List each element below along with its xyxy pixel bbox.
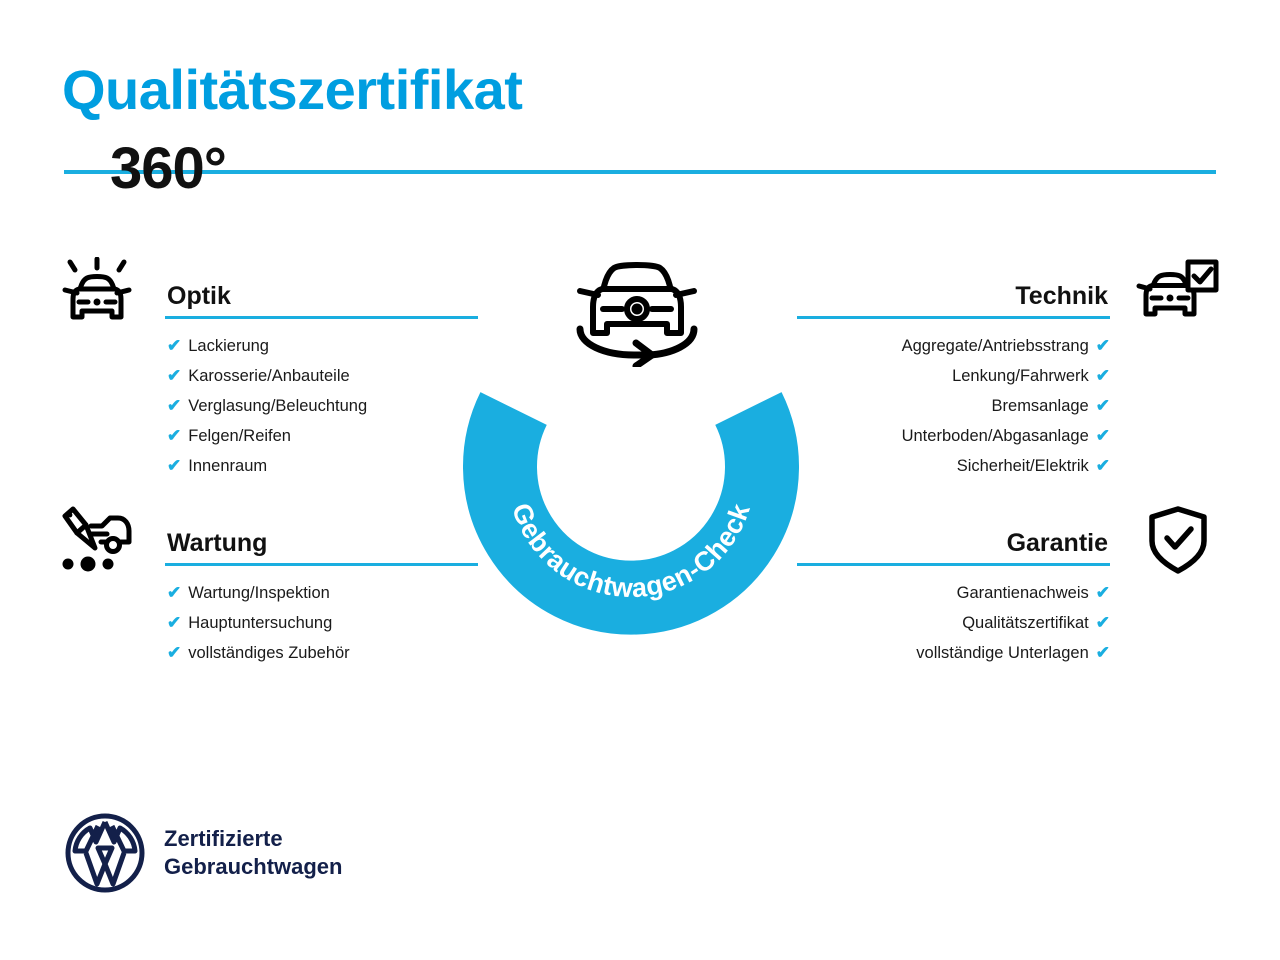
check-icon: ✔: [1096, 336, 1110, 355]
list-item-label: Karosserie/Anbauteile: [188, 367, 349, 385]
section-header: Garantie: [800, 502, 1220, 578]
section-header: Wartung: [55, 502, 475, 578]
check-icon: ✔: [167, 426, 181, 445]
list-item-label: Garantienachweis: [957, 584, 1089, 602]
list-item: ✔vollständiges Zubehör: [167, 638, 475, 668]
list-item: ✔Innenraum: [167, 451, 475, 481]
check-icon: ✔: [167, 396, 181, 415]
list-item-label: Sicherheit/Elektrik: [957, 457, 1089, 475]
list-item: Qualitätszertifikat✔: [800, 608, 1110, 638]
section-title: Garantie: [1007, 529, 1108, 558]
list-item-label: Qualitätszertifikat: [962, 614, 1089, 632]
footer-logo: Zertifizierte Gebrauchtwagen: [64, 812, 342, 894]
list-item: Lenkung/Fahrwerk✔: [800, 361, 1110, 391]
check-icon: ✔: [1096, 456, 1110, 475]
check-icon: ✔: [1096, 396, 1110, 415]
list-item-label: Lenkung/Fahrwerk: [952, 367, 1089, 385]
list-item: ✔Karosserie/Anbauteile: [167, 361, 475, 391]
check-icon: ✔: [167, 643, 181, 662]
check-icon: ✔: [167, 456, 181, 475]
check-icon: ✔: [167, 613, 181, 632]
car-checkbox-icon: [1136, 257, 1220, 329]
section-divider: [165, 563, 478, 566]
list-item-label: Wartung/Inspektion: [188, 584, 330, 602]
footer-text: Zertifizierte Gebrauchtwagen: [164, 825, 342, 881]
check-icon: ✔: [1096, 426, 1110, 445]
section-title: Wartung: [167, 529, 267, 558]
list-item: Unterboden/Abgasanlage✔: [800, 421, 1110, 451]
footer-line-1: Zertifizierte: [164, 825, 342, 853]
section-technik: Technik Aggregate/Antriebsstrang✔ Lenkun…: [800, 255, 1220, 481]
list-item: vollständige Unterlagen✔: [800, 638, 1110, 668]
list-item-label: Lackierung: [188, 337, 269, 355]
list-item-label: vollständige Unterlagen: [916, 644, 1088, 662]
checklist-garantie: Garantienachweis✔ Qualitätszertifikat✔ v…: [800, 578, 1220, 668]
section-divider: [797, 563, 1110, 566]
checklist-wartung: ✔Wartung/Inspektion ✔Hauptuntersuchung ✔…: [55, 578, 475, 668]
list-item-label: Verglasung/Beleuchtung: [188, 397, 367, 415]
list-item: ✔Felgen/Reifen: [167, 421, 475, 451]
list-item-label: Felgen/Reifen: [188, 427, 291, 445]
list-item-label: vollständiges Zubehör: [188, 644, 349, 662]
list-item-label: Hauptuntersuchung: [188, 614, 332, 632]
list-item: Sicherheit/Elektrik✔: [800, 451, 1110, 481]
checklist-optik: ✔Lackierung ✔Karosserie/Anbauteile ✔Verg…: [55, 331, 475, 481]
list-item: Aggregate/Antriebsstrang✔: [800, 331, 1110, 361]
list-item-label: Unterboden/Abgasanlage: [902, 427, 1089, 445]
list-item: Bremsanlage✔: [800, 391, 1110, 421]
checklist-technik: Aggregate/Antriebsstrang✔ Lenkung/Fahrwe…: [800, 331, 1220, 481]
list-item: ✔Hauptuntersuchung: [167, 608, 475, 638]
list-item-label: Aggregate/Antriebsstrang: [902, 337, 1089, 355]
section-title: Technik: [1015, 282, 1108, 311]
check-icon: ✔: [1096, 613, 1110, 632]
car-rotate-360-icon: [562, 249, 712, 367]
list-item: ✔Verglasung/Beleuchtung: [167, 391, 475, 421]
check-icon: ✔: [1096, 366, 1110, 385]
check-icon: ✔: [167, 336, 181, 355]
check-icon: ✔: [1096, 643, 1110, 662]
list-item-label: Innenraum: [188, 457, 267, 475]
pencil-car-service-icon: [55, 504, 139, 576]
volkswagen-logo-icon: [64, 812, 146, 894]
section-header: Technik: [800, 255, 1220, 331]
section-wartung: Wartung ✔Wartung/Inspektion ✔Hauptunters…: [55, 502, 475, 668]
list-item: ✔Wartung/Inspektion: [167, 578, 475, 608]
section-garantie: Garantie Garantienachweis✔ Qualitätszert…: [800, 502, 1220, 668]
check-icon: ✔: [1096, 583, 1110, 602]
section-divider: [797, 316, 1110, 319]
list-item-label: Bremsanlage: [992, 397, 1089, 415]
shield-check-icon: [1136, 504, 1220, 576]
footer-line-2: Gebrauchtwagen: [164, 853, 342, 881]
list-item: Garantienachweis✔: [800, 578, 1110, 608]
check-icon: ✔: [167, 583, 181, 602]
badge-center-label: 360°: [0, 0, 336, 336]
check-icon: ✔: [167, 366, 181, 385]
